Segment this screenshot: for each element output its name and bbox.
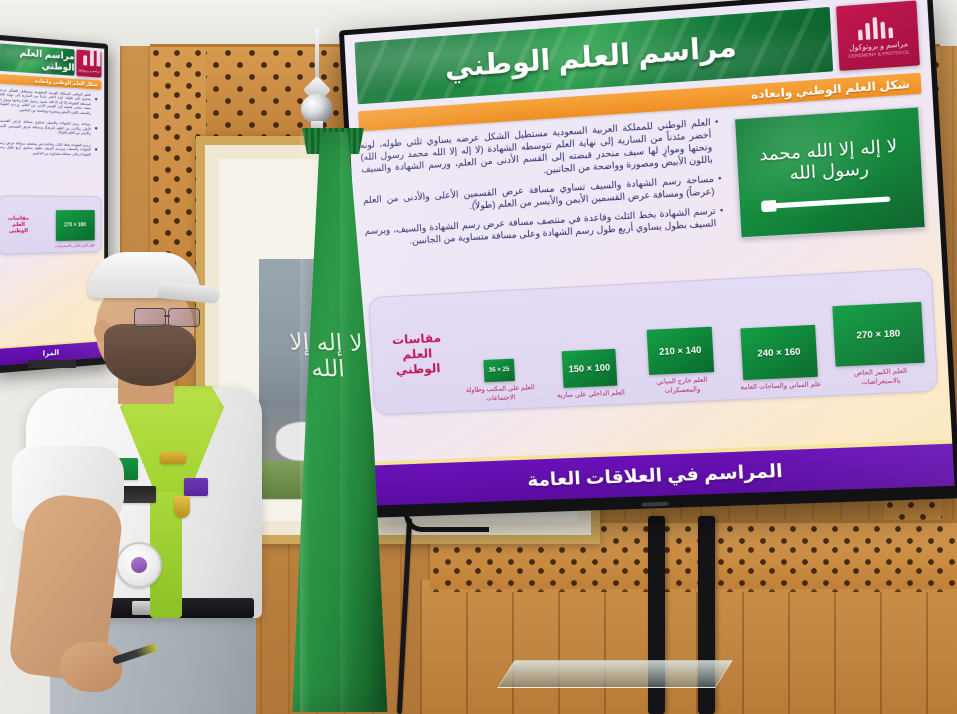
secondary-logo-text: مراسم و بروتوكول xyxy=(78,67,100,73)
flag-size-caption: العلم الداخلي على سارية xyxy=(557,389,625,400)
secondary-section-header: شكل العلم الوطني وابعاده xyxy=(35,78,98,88)
presenter xyxy=(8,246,280,714)
shahada-text: لا إله إلا الله محمد رسول الله xyxy=(737,135,922,188)
bullet-dot-icon: • xyxy=(720,204,725,229)
presenter-hand xyxy=(60,642,122,692)
slide-footer-text: المراسم في العلاقات العامة xyxy=(527,460,784,491)
bullet-dot-icon: • xyxy=(715,116,721,166)
flag-size-label: 150 × 100 xyxy=(568,362,610,374)
flag-sizes-list: 270 × 180 العلم الكبير الخاص بالاستعراضا… xyxy=(452,275,928,404)
secondary-size-item: 270 × 180 العلم الكبير الخاص بالاستعراضا… xyxy=(55,200,95,249)
main-tv: مراسم العلم الوطني مراسم و بروتوكول CERE… xyxy=(339,0,957,518)
flag-size-caption: علم المباني والساحات العامة xyxy=(740,380,821,392)
secondary-bullets: • العلم الوطني للمملكة العربية السعودية … xyxy=(0,88,101,190)
crown-icon xyxy=(855,14,900,40)
flag-fold-highlight xyxy=(300,132,310,712)
slide-body-row: • العلم الوطني للمملكة العربية السعودية … xyxy=(360,102,931,291)
flag-size-item: 270 × 180 العلم الكبير الخاص بالاستعراضا… xyxy=(831,276,926,389)
main-tv-bezel: مراسم العلم الوطني مراسم و بروتوكول CERE… xyxy=(344,0,955,506)
flag-size-swatch: 36 × 25 xyxy=(483,359,515,383)
flag-size-label: 270 × 180 xyxy=(856,328,900,341)
eyeglass-lens-right xyxy=(168,308,200,327)
secondary-size-box: 270 × 180 xyxy=(55,210,94,241)
flag-size-item: 36 × 25 العلم على المكتب وطاولة الاجتماع… xyxy=(454,295,543,404)
bullet-dot: • xyxy=(95,123,98,137)
flag-size-label: 210 × 140 xyxy=(659,345,702,357)
flag-size-item: 150 × 100 العلم الداخلي على سارية xyxy=(551,291,625,400)
eyeglasses-icon xyxy=(134,308,200,325)
finial-ball xyxy=(301,94,333,124)
sword-icon xyxy=(772,196,891,208)
flag-size-label: 36 × 25 xyxy=(489,367,510,374)
badge-purple xyxy=(184,478,208,496)
flag-sizes-panel: مقاسات العلم الوطني 270 × 180 العلم الكب… xyxy=(368,268,938,416)
tv-stand-glass-shelf xyxy=(497,660,732,688)
flag-size-caption: العلم خارج المباني والمعسكرات xyxy=(639,376,726,397)
secondary-bullet-text: ترسم الشهادة بخط الثلث وقاعدة في منتصف م… xyxy=(0,140,91,156)
flag-size-item: 210 × 140 العلم خارج المباني والمعسكرات xyxy=(634,286,726,397)
protocol-logo: مراسم و بروتوكول CEREMONY & PROTOCOL xyxy=(836,0,920,70)
bullet-dot: • xyxy=(95,93,98,116)
secondary-title: مراسم العلم الوطني xyxy=(0,45,75,73)
badge-round-emblem xyxy=(116,542,162,588)
bullet-list: • العلم الوطني للمملكة العربية السعودية … xyxy=(360,115,731,291)
slide-title: مراسم العلم الوطني xyxy=(444,29,738,84)
flag-fold-highlight xyxy=(340,132,350,712)
screenshot-scene: مراسم العلم الوطني مراسم و بروتوكول شكل … xyxy=(0,0,957,714)
secondary-sizes-title: مقاسات العلم الوطني xyxy=(3,200,34,251)
wood-planks xyxy=(420,580,957,714)
badge-medal xyxy=(174,496,190,518)
flag-size-swatch: 150 × 100 xyxy=(562,348,618,387)
tv-brand-logo xyxy=(642,502,669,507)
flag-size-swatch: 210 × 140 xyxy=(647,327,715,375)
bullet-dot-icon: • xyxy=(718,172,723,197)
flag-size-caption: العلم على المكتب وطاولة الاجتماعات xyxy=(458,384,542,404)
secondary-logo-mark xyxy=(81,54,96,65)
secondary-size-label: 270 × 180 xyxy=(64,222,86,228)
saudi-flag-graphic: لا إله إلا الله محمد رسول الله xyxy=(734,106,926,238)
eyeglass-bridge xyxy=(164,315,170,317)
secondary-logo: مراسم و بروتوكول xyxy=(76,50,101,78)
presentation-slide: مراسم العلم الوطني مراسم و بروتوكول CERE… xyxy=(344,0,955,506)
secondary-title-banner: مراسم العلم الوطني xyxy=(0,43,75,76)
flag-size-item: 240 × 160 علم المباني والساحات العامة xyxy=(735,281,822,393)
section-header-text: شكل العلم الوطني وابعاده xyxy=(751,77,911,102)
flag-size-swatch: 270 × 180 xyxy=(832,302,924,367)
flag-illustration-wrapper: لا إله إلا الله محمد رسول الله xyxy=(731,102,931,272)
presenter-beard xyxy=(104,324,196,386)
secondary-bullet-text: العلم الوطني للمملكة العربية السعودية مس… xyxy=(0,88,91,116)
flag-size-swatch: 240 × 160 xyxy=(740,324,818,379)
belt-buckle xyxy=(132,601,152,615)
flag-sizes-title: مقاسات العلم الوطني xyxy=(378,300,458,408)
bullet-dot: • xyxy=(95,143,98,157)
eyeglass-lens-left xyxy=(134,308,166,327)
secondary-bullet-text: مساحة رسم الشهادة والسيف تساوي مسافة عرض… xyxy=(0,119,91,136)
flag-size-caption: العلم الكبير الخاص بالاستعراضات xyxy=(836,367,926,388)
badge-gold-bar xyxy=(160,452,186,464)
flag-size-label: 240 × 160 xyxy=(757,346,801,358)
